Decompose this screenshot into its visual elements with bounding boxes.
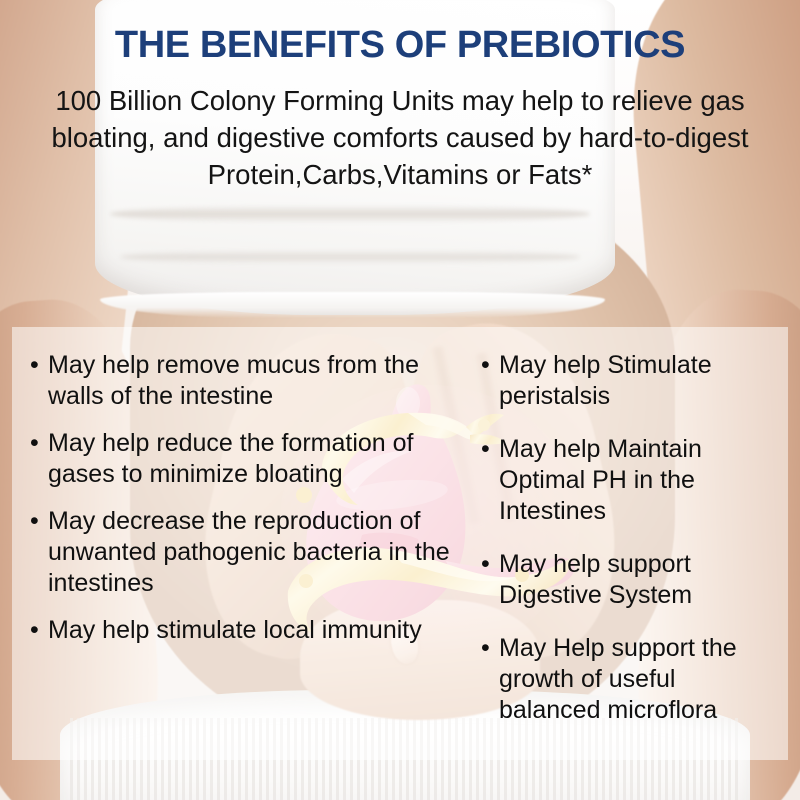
benefit-item: • May help Stimulate peristalsis — [481, 350, 781, 412]
benefit-item: • May help reduce the formation of gases… — [30, 428, 450, 490]
bullet-dot-icon: • — [30, 428, 48, 459]
benefit-text: May help stimulate local immunity — [48, 615, 450, 646]
bullet-dot-icon: • — [30, 350, 48, 381]
shirt-hem — [100, 292, 605, 318]
benefit-text: May help Stimulate peristalsis — [499, 350, 781, 412]
benefit-item: • May decrease the reproduction of unwan… — [30, 506, 450, 599]
benefit-text: May decrease the reproduction of unwante… — [48, 506, 450, 599]
benefit-text: May help remove mucus from the walls of … — [48, 350, 450, 412]
benefit-text: May help Maintain Optimal PH in the Inte… — [499, 434, 781, 527]
benefit-text: May Help support the growth of useful ba… — [499, 633, 781, 726]
benefit-item: • May help stimulate local immunity — [30, 615, 450, 646]
benefit-text: May help reduce the formation of gases t… — [48, 428, 450, 490]
benefits-right-column: • May help Stimulate peristalsis • May h… — [481, 350, 781, 748]
shirt-fold — [110, 205, 590, 223]
page-subtitle: 100 Billion Colony Forming Units may hel… — [14, 82, 786, 193]
benefit-text: May help support Digestive System — [499, 549, 781, 611]
benefit-item: • May help support Digestive System — [481, 549, 781, 611]
page-title: THE BENEFITS OF PREBIOTICS — [0, 24, 800, 67]
benefit-item: • May help remove mucus from the walls o… — [30, 350, 450, 412]
bullet-dot-icon: • — [481, 434, 499, 465]
bullet-dot-icon: • — [30, 506, 48, 537]
benefit-item: • May help Maintain Optimal PH in the In… — [481, 434, 781, 527]
bullet-dot-icon: • — [481, 350, 499, 381]
bullet-dot-icon: • — [30, 615, 48, 646]
bullet-dot-icon: • — [481, 633, 499, 664]
prebiotics-benefits-infographic: THE BENEFITS OF PREBIOTICS 100 Billion C… — [0, 0, 800, 800]
shirt-fold — [120, 250, 580, 264]
bullet-dot-icon: • — [481, 549, 499, 580]
benefit-item: • May Help support the growth of useful … — [481, 633, 781, 726]
benefits-left-column: • May help remove mucus from the walls o… — [30, 350, 450, 662]
